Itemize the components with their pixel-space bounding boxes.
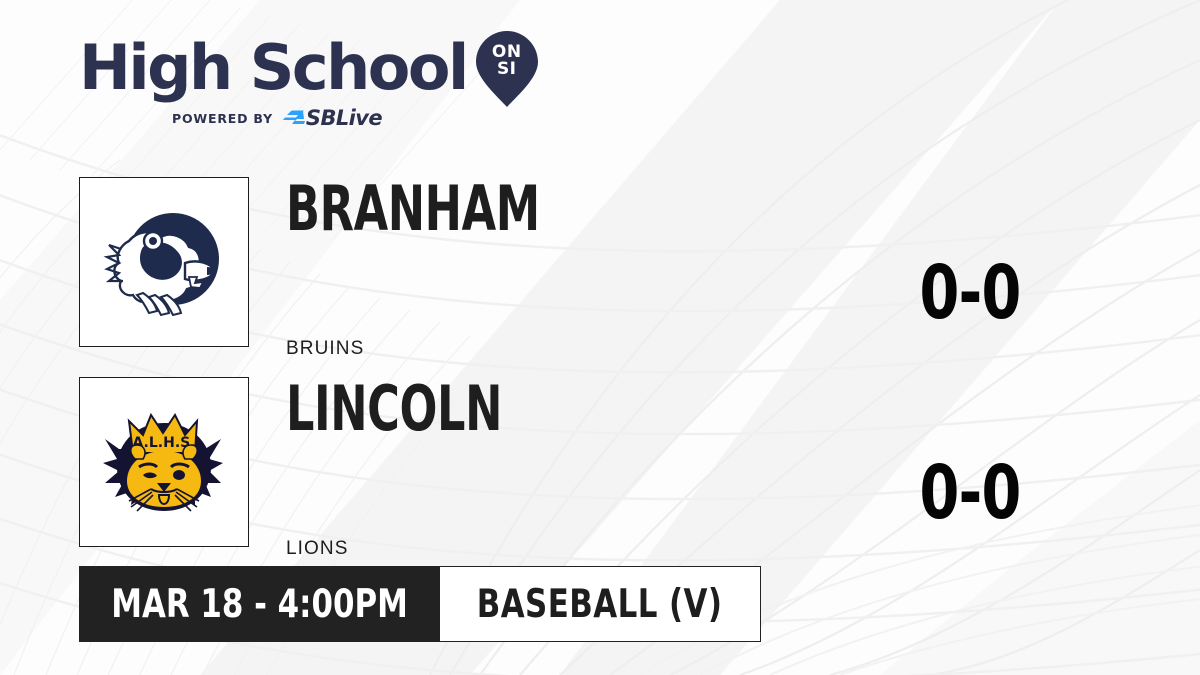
sblive-s-icon [283, 109, 305, 127]
badge-line-2: SI [475, 61, 539, 78]
brand-logo: High School ON SI POWERED BY SBLive [79, 34, 509, 128]
game-datetime: MAR 18 - 4:00PM [111, 582, 408, 627]
bear-head-logo [99, 197, 229, 327]
team-mascot: BRUINS [286, 338, 364, 360]
game-sport-panel: BASEBALL (V) [440, 566, 761, 642]
powered-by-label: POWERED BY [172, 111, 273, 126]
map-pin-icon: ON SI [475, 30, 509, 108]
lion-head-crown-logo: A.L.H.S. [99, 397, 229, 527]
team-name: BRANHAM [286, 178, 540, 240]
badge-text: ON SI [475, 44, 539, 78]
powered-by-row: POWERED BY SBLive [79, 108, 509, 128]
brand-wordmark: High School [79, 39, 467, 97]
team-name: LINCOLN [286, 378, 502, 440]
game-sport: BASEBALL (V) [477, 582, 723, 627]
brand-logo-row: High School ON SI [79, 34, 509, 102]
partner-name: SBLive [306, 106, 382, 130]
matchup-graphic: High School ON SI POWERED BY SBLive [0, 0, 1200, 675]
team-logo-box: A.L.H.S. [79, 377, 249, 547]
team-score: 0-0 [867, 256, 1073, 330]
game-info-bar: MAR 18 - 4:00PM BASEBALL (V) [79, 566, 761, 642]
game-datetime-panel: MAR 18 - 4:00PM [79, 566, 440, 642]
team-score: 0-0 [867, 456, 1073, 530]
team-mascot: LIONS [286, 538, 349, 560]
team-logo-box [79, 177, 249, 347]
